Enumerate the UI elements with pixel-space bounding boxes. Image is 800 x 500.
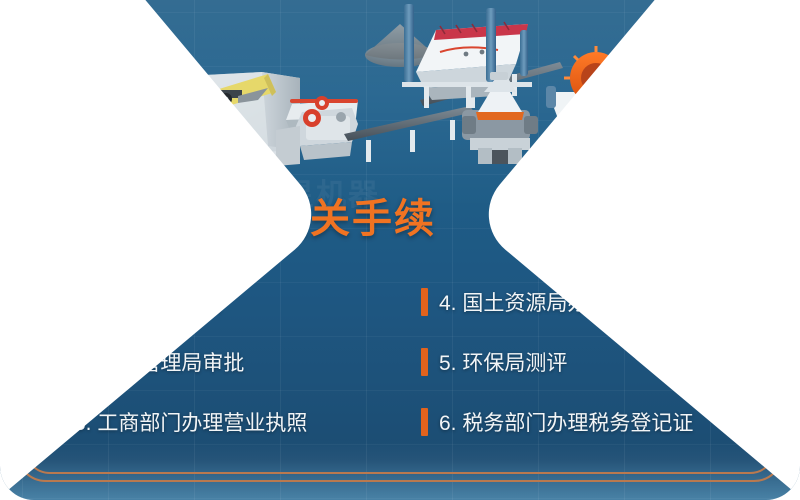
list-item-text: 3. 工商部门办理营业执照 [74, 407, 307, 437]
list-item-text: 6. 税务部门办理税务登记证 [439, 407, 693, 437]
bullet-bar-icon [421, 348, 428, 376]
list-item-text: 5. 环保局测评 [439, 347, 567, 377]
infographic-stage: 红星机器 磕石子厂相关手续 1. 工商部门核名 4. 国土资源局办开采证 2. … [0, 0, 800, 500]
belt-conveyor [344, 106, 474, 162]
bullet-bar-icon [421, 288, 428, 316]
blue-background-panel: 红星机器 磕石子厂相关手续 1. 工商部门核名 4. 国土资源局办开采证 2. … [0, 0, 800, 500]
bullet-bar-icon [421, 408, 428, 436]
